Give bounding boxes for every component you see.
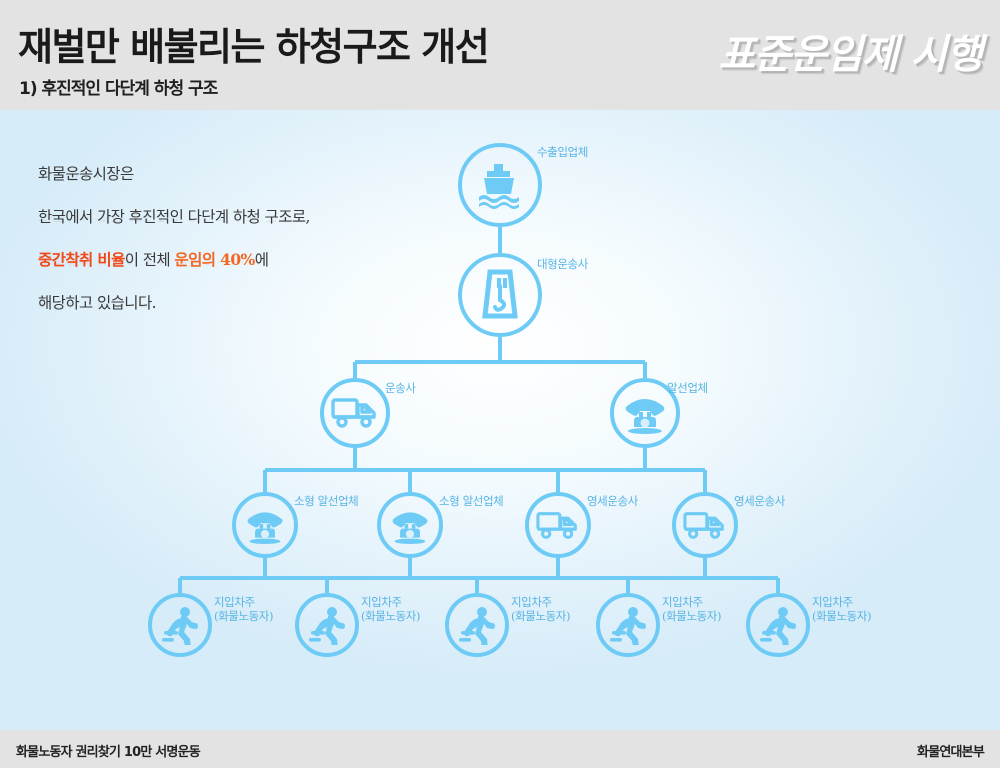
node-small-broker-2[interactable]: [377, 492, 443, 558]
node-label-small-broker-2: 소형 알선업체: [439, 495, 503, 509]
owner-driver-label-line1: 지입차주: [361, 596, 420, 610]
node-micro-carrier-1[interactable]: [525, 492, 591, 558]
header-bar: 재벌만 배불리는 하청구조 개선 1) 후진적인 다단계 하청 구조 표준운임제…: [0, 0, 1000, 110]
node-label-owner-driver-3: 지입차주 (화물노동자): [511, 596, 570, 623]
diagram-canvas: 화물운송시장은 화물운송시장은 한국에서 가장 후진적인 다단계 하청 구조로,…: [0, 110, 1000, 730]
node-owner-driver-4[interactable]: [596, 593, 660, 657]
node-label-micro-carrier-1: 영세운송사: [587, 495, 638, 509]
truck-icon: [331, 396, 379, 430]
owner-driver-label-line2: (화물노동자): [214, 610, 273, 624]
node-label-small-broker-1: 소형 알선업체: [294, 495, 358, 509]
node-carrier[interactable]: [320, 378, 390, 448]
watermark-text: 표준운임제 시행: [718, 22, 982, 80]
node-owner-driver-1[interactable]: [148, 593, 212, 657]
node-label-owner-driver-1: 지입차주 (화물노동자): [214, 596, 273, 623]
footer-bar: 화물노동자 권리찾기 10만 서명운동 화물연대본부: [0, 730, 1000, 768]
ship-icon: [473, 158, 527, 212]
runner-icon: [608, 605, 648, 645]
owner-driver-label-line2: (화물노동자): [812, 610, 871, 624]
truck-icon: [536, 510, 580, 541]
footer-campaign-text: 화물노동자 권리찾기 10만 서명운동: [16, 741, 200, 760]
crane-icon: [473, 266, 527, 324]
node-label-micro-carrier-2: 영세운송사: [734, 495, 785, 509]
hierarchy-tree: 수출입업체 대형운송사: [0, 110, 1000, 730]
owner-driver-label-line2: (화물노동자): [662, 610, 721, 624]
node-owner-driver-2[interactable]: [295, 593, 359, 657]
owner-driver-label-line1: 지입차주: [812, 596, 871, 610]
page-title: 재벌만 배불리는 하청구조 개선: [18, 16, 488, 71]
node-micro-carrier-2[interactable]: [672, 492, 738, 558]
telephone-icon: [390, 506, 430, 544]
telephone-icon: [245, 506, 285, 544]
owner-driver-label-line2: (화물노동자): [361, 610, 420, 624]
node-owner-driver-3[interactable]: [445, 593, 509, 657]
node-small-broker-1[interactable]: [232, 492, 298, 558]
owner-driver-label-line1: 지입차주: [662, 596, 721, 610]
owner-driver-label-line2: (화물노동자): [511, 610, 570, 624]
node-label-owner-driver-5: 지입차주 (화물노동자): [812, 596, 871, 623]
node-label-owner-driver-4: 지입차주 (화물노동자): [662, 596, 721, 623]
infographic-page: 재벌만 배불리는 하청구조 개선 1) 후진적인 다단계 하청 구조 표준운임제…: [0, 0, 1000, 768]
node-label-large-carrier: 대형운송사: [537, 258, 588, 272]
node-label-exporter-importer: 수출입업체: [537, 146, 588, 160]
owner-driver-label-line1: 지입차주: [511, 596, 570, 610]
runner-icon: [758, 605, 798, 645]
telephone-icon: [623, 392, 667, 434]
node-label-broker: 알선업체: [667, 382, 708, 396]
node-owner-driver-5[interactable]: [746, 593, 810, 657]
node-label-carrier: 운송사: [385, 382, 416, 396]
node-label-owner-driver-2: 지입차주 (화물노동자): [361, 596, 420, 623]
runner-icon: [457, 605, 497, 645]
runner-icon: [160, 605, 200, 645]
footer-organization-text: 화물연대본부: [917, 741, 984, 760]
runner-icon: [307, 605, 347, 645]
node-exporter-importer[interactable]: [458, 143, 542, 227]
node-large-carrier[interactable]: [458, 253, 542, 337]
truck-icon: [683, 510, 727, 541]
owner-driver-label-line1: 지입차주: [214, 596, 273, 610]
page-subtitle: 1) 후진적인 다단계 하청 구조: [19, 74, 217, 99]
